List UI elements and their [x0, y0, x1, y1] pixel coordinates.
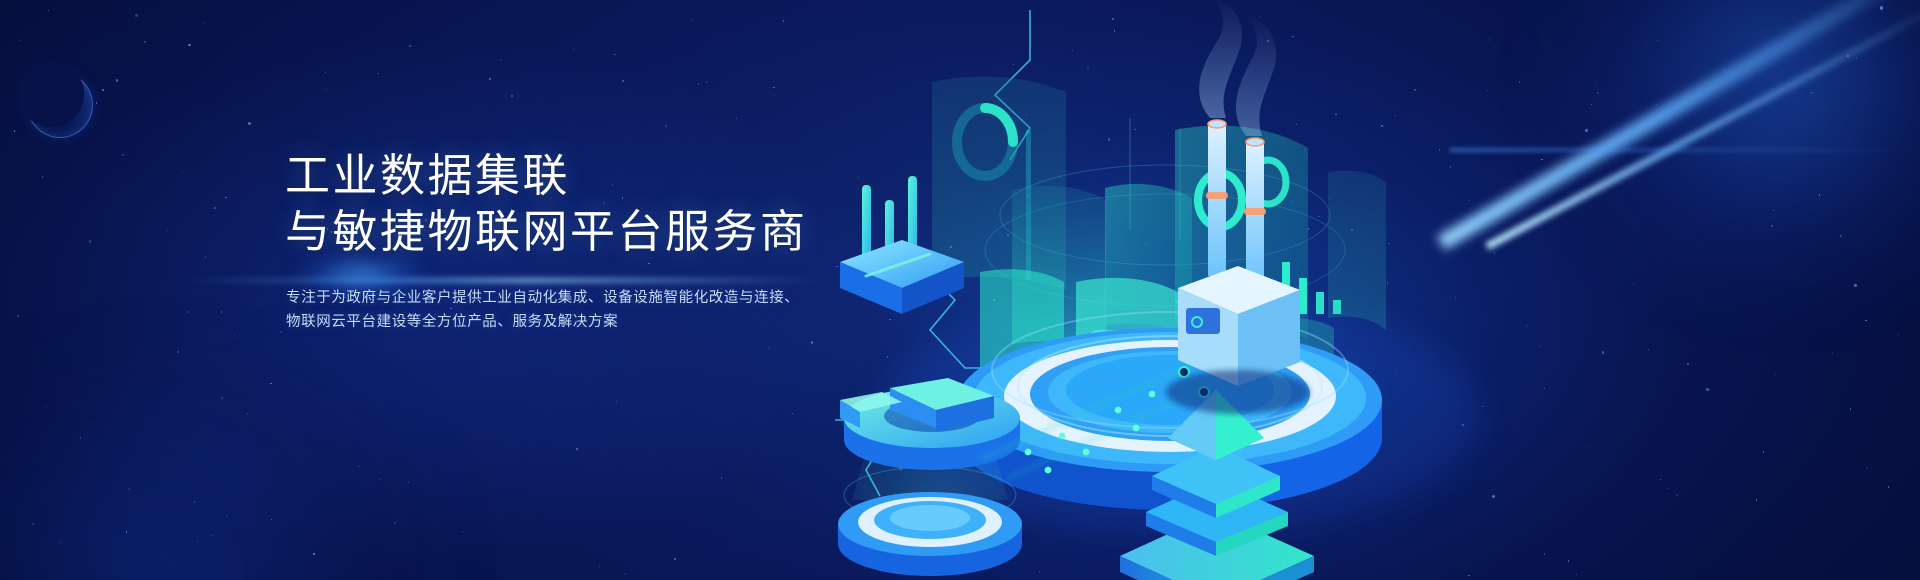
hero-subtitle: 专注于为政府与企业客户提供工业自动化集成、设备设施智能化改造与连接、 物联网云平… — [286, 286, 925, 334]
headline-line-1: 工业数据集联 — [285, 148, 925, 204]
hero-copy: 工业数据集联 与敏捷物联网平台服务商 专注于为政府与企业客户提供工业自动化集成、… — [285, 148, 925, 334]
hologram-disc — [838, 492, 1022, 576]
hero-banner: 工业数据集联 与敏捷物联网平台服务商 专注于为政府与企业客户提供工业自动化集成、… — [0, 0, 1920, 580]
headline-line-2: 与敏捷物联网平台服务商 — [285, 204, 925, 260]
crescent-planet-icon — [27, 72, 93, 138]
subtitle-line-1: 专注于为政府与企业客户提供工业自动化集成、设备设施智能化改造与连接、 — [286, 286, 925, 310]
hero-illustration — [780, 0, 1920, 580]
bottom-left-glow — [0, 360, 480, 580]
subtitle-line-2: 物联网云平台建设等全方位产品、服务及解决方案 — [286, 310, 925, 334]
